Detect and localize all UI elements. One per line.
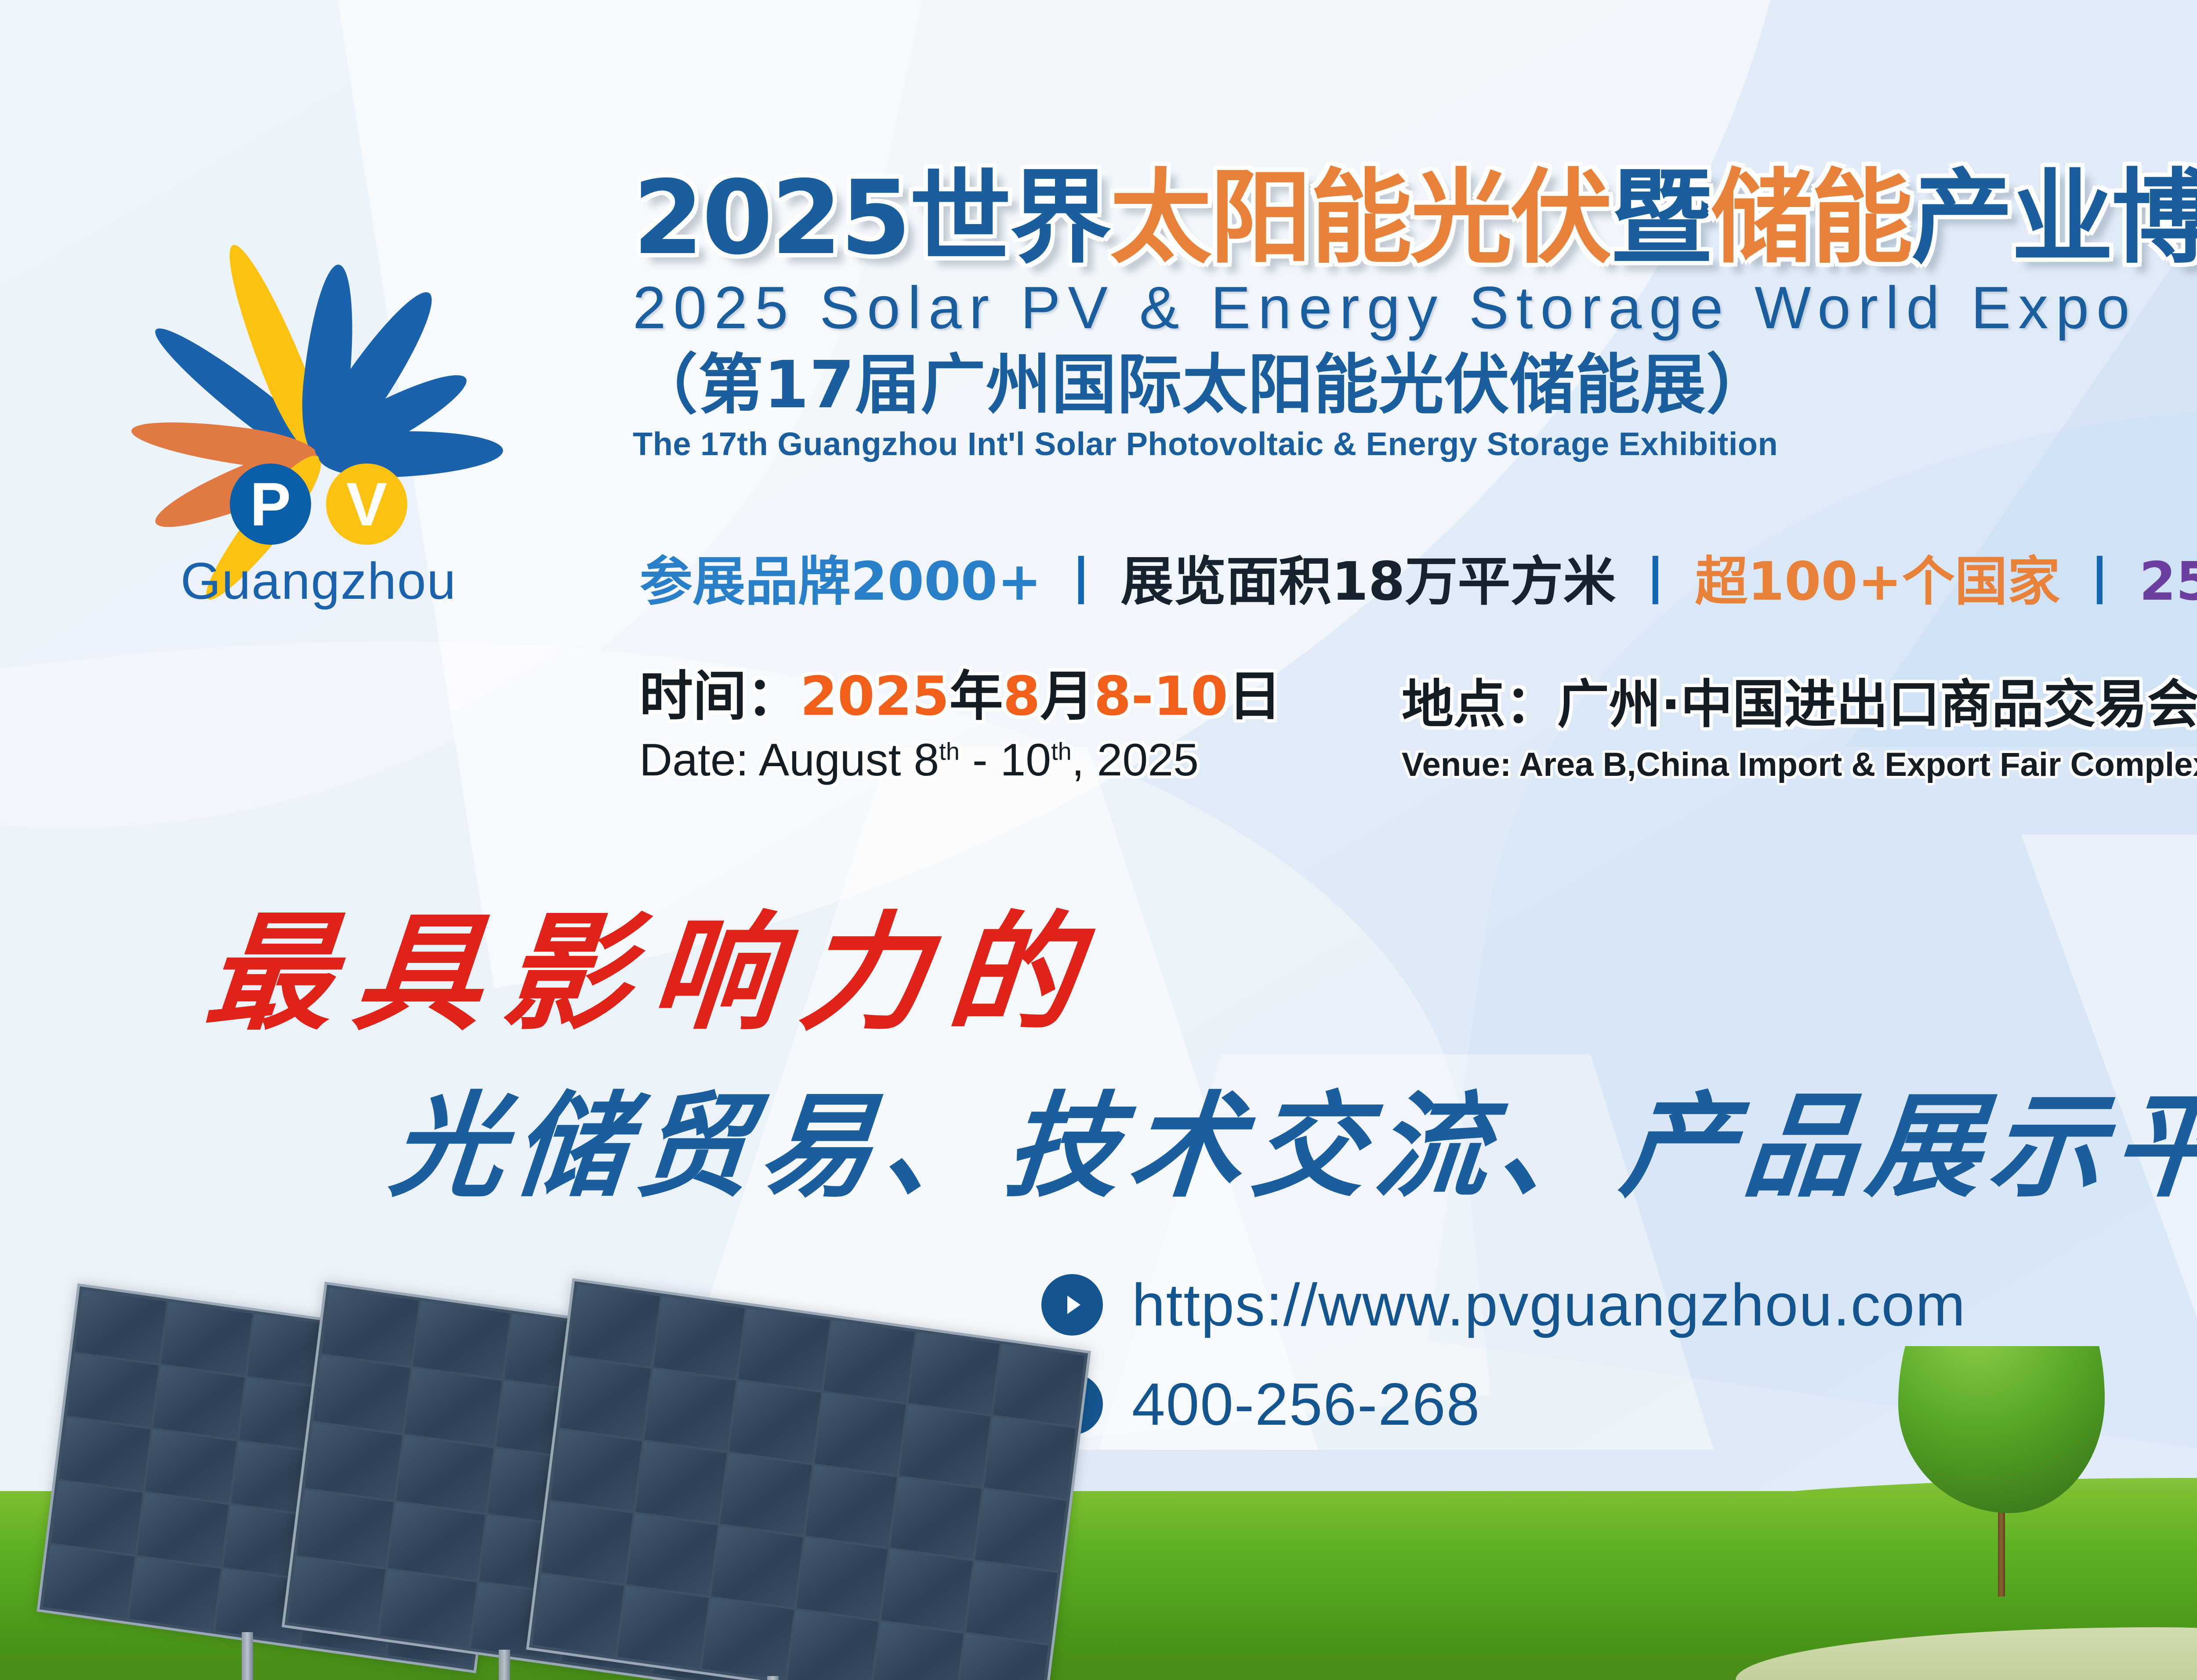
solar-cell: [899, 1405, 990, 1487]
stats-item-1: 展览面积18万平方米: [1121, 556, 1616, 608]
date-en-day2-ordinal: th: [1051, 737, 1072, 765]
date-label-cn: 时间：: [639, 665, 800, 728]
solar-cell: [617, 1586, 709, 1668]
solar-panel-face: [526, 1278, 1091, 1680]
date-en-year: , 2025: [1072, 735, 1199, 786]
solar-cell: [702, 1598, 794, 1680]
solar-cell: [413, 1301, 510, 1379]
date-en-day1: 8: [914, 735, 939, 786]
solar-cell: [161, 1302, 252, 1375]
stats-separator: 丨: [1056, 557, 1107, 608]
solar-cell: [379, 1570, 476, 1648]
solar-cell: [551, 1430, 642, 1511]
solar-cell: [560, 1357, 651, 1439]
venue-cn: 地点：广州·中国进出口商品交易会展馆B区: [1402, 677, 2197, 732]
solar-cell: [645, 1369, 736, 1451]
solar-cell: [975, 1489, 1066, 1571]
solar-cell: [805, 1465, 897, 1547]
expo-banner: P V Guangzhou 2025世界太阳能光伏暨储能产业博览会 2025 S…: [0, 0, 2197, 1680]
solar-cell: [305, 1423, 402, 1500]
solar-cell: [796, 1538, 888, 1619]
solar-cell: [908, 1332, 1000, 1414]
solar-cell: [313, 1355, 410, 1433]
event-date-en: Date: August 8th - 10th, 2025: [639, 737, 1282, 783]
solar-cell: [966, 1562, 1057, 1644]
solar-panel-leg: [767, 1676, 779, 1680]
date-days: 8-10: [1094, 665, 1228, 728]
solar-cell: [890, 1477, 982, 1559]
page-title-part-2: 暨: [1611, 159, 1711, 277]
page-title-part-1: 太阳能光伏: [1110, 159, 1611, 277]
page-title-part-0: 2025世界: [633, 159, 1110, 277]
page-subtitle-cn: （第17届广州国际太阳能光伏储能展）: [633, 352, 2197, 417]
solar-cell: [129, 1557, 221, 1630]
solar-cell: [729, 1381, 821, 1463]
stats-item-3: 25万+名专业观众: [2139, 556, 2197, 608]
solar-panel: [549, 1311, 1068, 1680]
slogan-line-2: 光储贸易、技术交流、产品展示平台!: [386, 1090, 2197, 1203]
solar-cell: [627, 1514, 718, 1596]
solar-cell: [541, 1502, 633, 1584]
solar-cell: [405, 1368, 502, 1446]
tree: [1898, 1346, 2105, 1597]
solar-cell: [59, 1417, 150, 1491]
headline-block: 2025世界太阳能光伏暨储能产业博览会 2025 Solar PV & Ener…: [633, 167, 2197, 460]
solar-cell: [388, 1503, 485, 1581]
solar-cell: [739, 1308, 830, 1390]
pv-guangzhou-logo: P V Guangzhou: [48, 176, 589, 628]
solar-cell: [984, 1417, 1075, 1499]
solar-cell: [137, 1493, 228, 1567]
solar-cell: [823, 1321, 915, 1402]
date-days-suffix: 日: [1228, 665, 1282, 728]
solar-cell: [322, 1288, 419, 1366]
date-year: 2025: [800, 665, 950, 728]
solar-cell: [635, 1441, 727, 1523]
page-title-part-4: 产业博览会: [1911, 159, 2197, 277]
date-year-suffix: 年: [950, 665, 1003, 728]
solar-panel-leg: [499, 1650, 510, 1680]
solar-cell: [533, 1575, 624, 1656]
event-date-cn: 时间：2025年8月8-10日: [639, 668, 1282, 726]
solar-cell: [51, 1481, 142, 1555]
solar-cell: [720, 1453, 812, 1535]
stats-item-0: 参展品牌2000+: [640, 556, 1042, 608]
website-row[interactable]: https://www.pvguangzhou.com: [1041, 1274, 1966, 1336]
tree-crown: [1898, 1346, 2105, 1513]
solar-cell: [814, 1393, 906, 1474]
solar-cell: [75, 1290, 167, 1363]
logo-letter-v: V: [326, 463, 407, 545]
page-title-cn: 2025世界太阳能光伏暨储能产业博览会: [633, 167, 2197, 269]
solar-cell: [872, 1622, 963, 1680]
solar-cell: [653, 1296, 745, 1378]
solar-cell: [43, 1545, 134, 1618]
event-venue-block: 地点：广州·中国进出口商品交易会展馆B区 Venue: Area B,China…: [1402, 677, 2197, 782]
event-date-block: 时间：2025年8月8-10日 Date: August 8th - 10th,…: [639, 668, 1282, 783]
date-month-suffix: 月: [1040, 665, 1094, 728]
page-title-part-3: 储能: [1711, 159, 1911, 277]
venue-en: Venue: Area B,China Import & Export Fair…: [1402, 748, 2197, 782]
page-title-en: 2025 Solar PV & Energy Storage World Exp…: [633, 278, 2197, 337]
logo-wordmark: Guangzhou: [181, 551, 457, 611]
solar-cell: [711, 1526, 803, 1608]
logo-pv-badges: P V: [230, 463, 407, 545]
date-en-day2: 10: [1000, 735, 1051, 786]
solar-cell: [881, 1550, 972, 1631]
solar-cell: [67, 1354, 158, 1427]
slogan-line-1: 最具影响力的: [201, 909, 1103, 1037]
date-en-day1-ordinal: th: [939, 737, 960, 765]
website-url[interactable]: https://www.pvguangzhou.com: [1132, 1275, 1966, 1335]
stats-separator: 丨: [1630, 557, 1681, 608]
date-en-dash: -: [960, 735, 1000, 786]
stats-item-2: 超100+个国家: [1695, 556, 2060, 608]
date-en-prefix: Date: August: [639, 735, 914, 786]
date-month: 8: [1003, 665, 1040, 728]
page-subtitle-en: The 17th Guangzhou Int'l Solar Photovolt…: [633, 428, 2197, 460]
solar-panel-leg: [242, 1632, 253, 1680]
solar-cell: [288, 1557, 385, 1635]
stats-row: 参展品牌2000+丨展览面积18万平方米丨超100+个国家丨25万+名专业观众: [637, 556, 2197, 608]
solar-cell: [569, 1285, 660, 1366]
solar-cell: [153, 1366, 244, 1439]
solar-cell: [145, 1430, 236, 1503]
solar-cell: [993, 1344, 1084, 1426]
solar-cell: [787, 1610, 878, 1680]
solar-cell: [396, 1435, 493, 1513]
solar-cell: [297, 1490, 394, 1568]
stats-separator: 丨: [2074, 557, 2125, 608]
logo-letter-p: P: [230, 463, 311, 545]
